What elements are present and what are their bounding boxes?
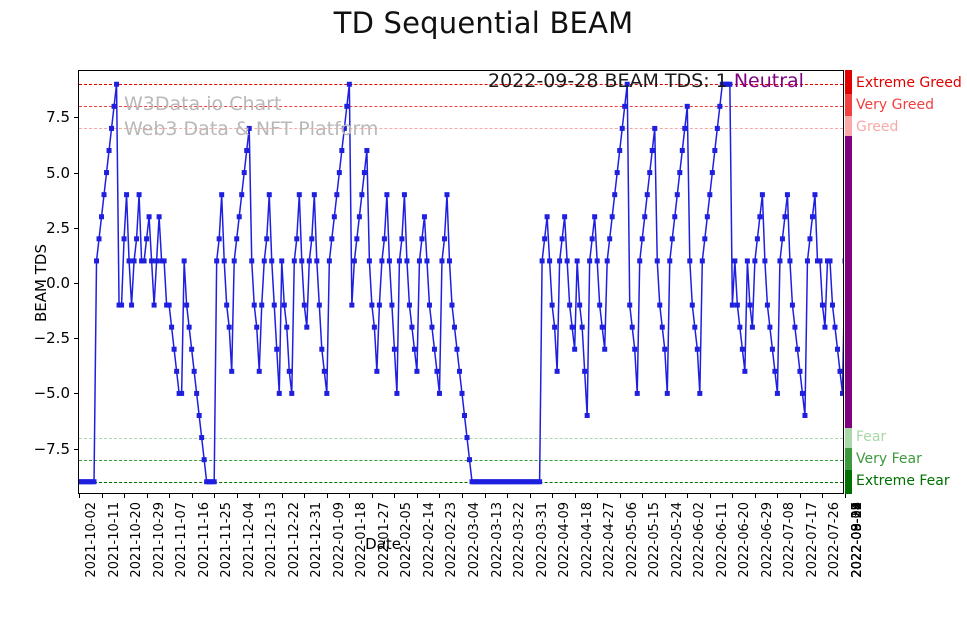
data-point-marker — [610, 214, 615, 219]
data-point-marker — [119, 303, 124, 308]
data-point-marker — [707, 192, 712, 197]
data-point-marker — [297, 192, 302, 197]
data-point-marker — [580, 325, 585, 330]
x-tick-mark — [687, 493, 688, 498]
y-tick-mark — [74, 228, 79, 229]
data-point-marker — [843, 258, 844, 263]
data-point-marker — [820, 303, 825, 308]
data-point-marker — [107, 148, 112, 153]
current-value-annotation: 2022-09-28 BEAM TDS: 1 Neutral — [488, 70, 804, 92]
x-tick-label: 2022-01-09 — [332, 502, 347, 578]
colorbar-segment — [845, 136, 852, 428]
x-tick-mark — [394, 493, 395, 498]
colorbar-label: Greed — [856, 119, 898, 135]
data-point-marker — [374, 369, 379, 374]
data-point-marker — [670, 236, 675, 241]
data-point-marker — [347, 82, 352, 87]
data-point-marker — [102, 192, 107, 197]
data-point-marker — [429, 325, 434, 330]
x-tick-label: 2022-03-13 — [490, 502, 505, 578]
data-point-marker — [134, 236, 139, 241]
data-point-marker — [817, 258, 822, 263]
data-point-marker — [660, 325, 665, 330]
data-point-marker — [595, 258, 600, 263]
data-point-marker — [214, 258, 219, 263]
data-point-marker — [397, 258, 402, 263]
data-point-marker — [680, 148, 685, 153]
data-point-marker — [675, 192, 680, 197]
data-point-marker — [224, 303, 229, 308]
data-point-marker — [367, 258, 372, 263]
data-point-marker — [792, 325, 797, 330]
data-point-marker — [222, 258, 227, 263]
data-point-marker — [540, 258, 545, 263]
data-point-marker — [557, 258, 562, 263]
data-point-marker — [444, 192, 449, 197]
data-point-marker — [97, 236, 102, 241]
data-point-marker — [337, 170, 342, 175]
data-point-marker — [257, 369, 262, 374]
y-tick-mark — [74, 393, 79, 394]
data-point-marker — [762, 258, 767, 263]
x-tick-mark — [507, 493, 508, 498]
data-point-marker — [394, 391, 399, 396]
data-point-marker — [109, 126, 114, 131]
data-point-marker — [712, 148, 717, 153]
data-point-marker — [94, 258, 99, 263]
data-point-marker — [587, 258, 592, 263]
data-point-marker — [575, 258, 580, 263]
data-point-marker — [812, 192, 817, 197]
data-point-marker — [685, 104, 690, 109]
data-point-marker — [417, 258, 422, 263]
x-tick-label: 2021-10-20 — [129, 502, 144, 578]
x-tick-label: 2022-04-27 — [602, 502, 617, 578]
data-point-marker — [329, 236, 334, 241]
data-point-marker — [687, 258, 692, 263]
data-point-marker — [172, 347, 177, 352]
data-point-marker — [439, 258, 444, 263]
plot-inner: W3Data.io Chart Web3 Data & NFT Platform — [79, 71, 843, 493]
data-point-marker — [262, 258, 267, 263]
x-tick-label: 2021-12-04 — [242, 502, 257, 578]
data-point-marker — [294, 236, 299, 241]
data-point-marker — [264, 236, 269, 241]
y-tick-label: 7.5 — [46, 108, 70, 126]
x-tick-mark — [485, 493, 486, 498]
x-tick-mark — [462, 493, 463, 498]
data-point-marker — [332, 214, 337, 219]
x-tick-label: 2022-05-06 — [625, 502, 640, 578]
data-point-marker — [122, 236, 127, 241]
data-point-marker — [197, 413, 202, 418]
data-point-marker — [577, 303, 582, 308]
data-point-marker — [149, 258, 154, 263]
data-point-marker — [747, 303, 752, 308]
data-point-marker — [605, 258, 610, 263]
data-point-marker — [402, 192, 407, 197]
data-point-marker — [690, 303, 695, 308]
data-point-marker — [424, 258, 429, 263]
data-point-marker — [542, 236, 547, 241]
x-tick-label: 2021-11-16 — [197, 502, 212, 578]
x-tick-mark — [124, 493, 125, 498]
x-tick-label: 2022-05-24 — [670, 502, 685, 578]
data-point-marker — [760, 192, 765, 197]
x-tick-label: 2021-12-13 — [264, 502, 279, 578]
data-point-marker — [735, 303, 740, 308]
data-point-marker — [737, 325, 742, 330]
data-point-marker — [239, 192, 244, 197]
data-point-marker — [192, 369, 197, 374]
data-point-marker — [822, 325, 827, 330]
data-point-marker — [312, 192, 317, 197]
data-point-marker — [802, 413, 807, 418]
data-point-marker — [807, 236, 812, 241]
data-point-marker — [182, 258, 187, 263]
data-point-marker — [364, 148, 369, 153]
data-point-marker — [827, 258, 832, 263]
data-point-marker — [187, 325, 192, 330]
data-point-marker — [637, 258, 642, 263]
data-point-marker — [142, 258, 147, 263]
data-point-marker — [157, 214, 162, 219]
y-tick-mark — [74, 173, 79, 174]
x-tick-label: 2021-10-29 — [152, 502, 167, 578]
data-point-marker — [700, 258, 705, 263]
data-point-marker — [677, 170, 682, 175]
colorbar-segment — [845, 470, 852, 494]
x-tick-mark — [620, 493, 621, 498]
data-point-marker — [277, 391, 282, 396]
data-point-marker — [592, 214, 597, 219]
data-point-marker — [645, 192, 650, 197]
data-point-marker — [382, 236, 387, 241]
watermark-line-2: Web3 Data & NFT Platform — [124, 118, 378, 140]
x-tick-label: 2021-12-31 — [309, 502, 324, 578]
data-point-marker — [112, 104, 117, 109]
data-point-marker — [92, 479, 97, 484]
watermark-line-1: W3Data.io Chart — [124, 93, 281, 115]
x-tick-label: 2022-03-31 — [535, 502, 550, 578]
data-point-marker — [279, 258, 284, 263]
y-tick-label: −5.0 — [34, 384, 70, 402]
data-point-marker — [114, 82, 119, 87]
y-tick-mark — [74, 449, 79, 450]
data-point-marker — [750, 325, 755, 330]
colorbar-segment — [845, 448, 852, 470]
data-point-marker — [602, 347, 607, 352]
colorbar-label: Very Fear — [856, 451, 922, 467]
data-point-marker — [287, 369, 292, 374]
data-point-marker — [600, 325, 605, 330]
data-point-marker — [309, 236, 314, 241]
data-point-marker — [795, 347, 800, 352]
x-tick-mark — [552, 493, 553, 498]
data-point-marker — [837, 369, 842, 374]
annotation-text: 2022-09-28 BEAM TDS: 1 — [488, 70, 728, 92]
data-point-marker — [319, 347, 324, 352]
data-point-marker — [272, 303, 277, 308]
colorbar-segment — [845, 428, 852, 448]
x-tick-label: 2021-10-02 — [84, 502, 99, 578]
data-point-marker — [607, 236, 612, 241]
x-tick-mark — [259, 493, 260, 498]
data-point-marker — [630, 325, 635, 330]
data-point-marker — [790, 303, 795, 308]
data-point-marker — [179, 391, 184, 396]
y-tick-label: 0.0 — [46, 274, 70, 292]
x-tick-mark — [417, 493, 418, 498]
data-point-marker — [162, 258, 167, 263]
data-point-marker — [740, 347, 745, 352]
data-point-marker — [359, 192, 364, 197]
data-point-marker — [697, 391, 702, 396]
data-point-marker — [555, 369, 560, 374]
data-point-marker — [372, 325, 377, 330]
data-point-marker — [242, 170, 247, 175]
data-point-marker — [672, 214, 677, 219]
data-point-marker — [465, 435, 470, 440]
x-tick-label: 2021-11-07 — [174, 502, 189, 578]
data-point-marker — [409, 325, 414, 330]
data-point-marker — [635, 391, 640, 396]
data-point-marker — [384, 192, 389, 197]
data-point-marker — [389, 303, 394, 308]
x-axis-label: Date — [365, 535, 401, 553]
colorbar-label: Very Greed — [856, 97, 934, 113]
data-point-marker — [560, 236, 565, 241]
data-point-marker — [447, 258, 452, 263]
x-tick-mark — [777, 493, 778, 498]
data-point-marker — [810, 214, 815, 219]
x-tick-mark — [102, 493, 103, 498]
data-point-marker — [547, 258, 552, 263]
data-point-marker — [657, 303, 662, 308]
data-point-marker — [299, 258, 304, 263]
data-point-marker — [567, 303, 572, 308]
page-title: TD Sequential BEAM — [0, 6, 967, 40]
data-point-marker — [219, 192, 224, 197]
data-point-marker — [169, 325, 174, 330]
x-tick-mark — [530, 493, 531, 498]
colorbar-label: Fear — [856, 429, 886, 445]
data-point-marker — [767, 325, 772, 330]
data-point-marker — [362, 170, 367, 175]
data-point-marker — [545, 214, 550, 219]
colorbar-segment — [845, 94, 852, 116]
data-point-marker — [597, 303, 602, 308]
data-point-marker — [184, 303, 189, 308]
data-point-marker — [832, 325, 837, 330]
data-point-marker — [244, 148, 249, 153]
data-point-marker — [452, 325, 457, 330]
data-point-marker — [780, 236, 785, 241]
data-point-marker — [652, 126, 657, 131]
data-point-marker — [800, 391, 805, 396]
data-point-marker — [615, 170, 620, 175]
data-point-marker — [174, 369, 179, 374]
data-point-marker — [647, 170, 652, 175]
data-point-marker — [199, 435, 204, 440]
data-point-marker — [710, 170, 715, 175]
series-polyline — [79, 84, 843, 482]
data-point-marker — [289, 391, 294, 396]
data-point-marker — [274, 347, 279, 352]
data-point-marker — [379, 258, 384, 263]
data-point-marker — [797, 369, 802, 374]
data-point-marker — [229, 369, 234, 374]
x-tick-label: 2021-12-22 — [287, 502, 302, 578]
data-point-marker — [785, 192, 790, 197]
data-point-marker — [407, 303, 412, 308]
data-point-marker — [129, 303, 134, 308]
data-point-marker — [437, 391, 442, 396]
x-tick-mark — [597, 493, 598, 498]
x-tick-label: 2022-06-20 — [737, 502, 752, 578]
x-tick-mark — [800, 493, 801, 498]
data-point-marker — [317, 303, 322, 308]
x-tick-mark — [304, 493, 305, 498]
data-point-marker — [777, 258, 782, 263]
data-point-marker — [805, 258, 810, 263]
x-tick-mark — [732, 493, 733, 498]
x-tick-label: 2022-02-14 — [422, 502, 437, 578]
data-point-marker — [369, 303, 374, 308]
data-point-marker — [419, 236, 424, 241]
data-point-marker — [349, 303, 354, 308]
data-point-marker — [292, 258, 297, 263]
y-tick-label: 2.5 — [46, 219, 70, 237]
chart-page: TD Sequential BEAM W3Data.io Chart Web3 … — [0, 0, 967, 633]
data-point-marker — [640, 236, 645, 241]
data-point-marker — [467, 457, 472, 462]
x-tick-mark — [169, 493, 170, 498]
data-point-marker — [127, 258, 132, 263]
x-tick-label: 2022-04-09 — [557, 502, 572, 578]
data-point-marker — [269, 258, 274, 263]
data-point-marker — [772, 369, 777, 374]
data-point-marker — [202, 457, 207, 462]
data-point-marker — [354, 236, 359, 241]
data-point-marker — [755, 236, 760, 241]
data-point-marker — [457, 369, 462, 374]
data-point-marker — [322, 369, 327, 374]
data-point-marker — [254, 325, 259, 330]
x-tick-mark — [575, 493, 576, 498]
data-point-marker — [632, 347, 637, 352]
data-point-marker — [692, 325, 697, 330]
x-tick-label: 2022-02-05 — [399, 502, 414, 578]
x-tick-mark — [192, 493, 193, 498]
data-point-marker — [617, 148, 622, 153]
data-point-marker — [835, 347, 840, 352]
data-point-marker — [552, 325, 557, 330]
y-tick-mark — [74, 283, 79, 284]
data-point-marker — [775, 391, 780, 396]
data-point-marker — [259, 303, 264, 308]
y-tick-label: 5.0 — [46, 164, 70, 182]
sentiment-colorbar — [845, 70, 852, 494]
data-point-marker — [284, 325, 289, 330]
data-point-marker — [154, 258, 159, 263]
x-tick-label: 2021-10-11 — [107, 502, 122, 578]
data-point-marker — [132, 258, 137, 263]
data-point-marker — [442, 236, 447, 241]
data-point-marker — [434, 369, 439, 374]
data-point-marker — [667, 258, 672, 263]
data-point-marker — [152, 303, 157, 308]
y-tick-mark — [74, 117, 79, 118]
x-tick-mark — [237, 493, 238, 498]
data-point-marker — [432, 347, 437, 352]
data-point-marker — [460, 391, 465, 396]
data-point-marker — [377, 303, 382, 308]
data-point-marker — [650, 148, 655, 153]
data-point-marker — [412, 347, 417, 352]
data-point-marker — [282, 303, 287, 308]
data-point-marker — [757, 214, 762, 219]
data-point-marker — [237, 214, 242, 219]
data-point-marker — [167, 303, 172, 308]
data-point-marker — [622, 104, 627, 109]
x-tick-label: 2022-02-23 — [444, 502, 459, 578]
x-tick-label: 2022-07-17 — [805, 502, 820, 578]
y-tick-label: −2.5 — [34, 329, 70, 347]
data-point-marker — [742, 369, 747, 374]
plot-area: W3Data.io Chart Web3 Data & NFT Platform… — [78, 70, 844, 494]
data-point-marker — [705, 214, 710, 219]
data-point-marker — [414, 369, 419, 374]
data-point-marker — [307, 258, 312, 263]
data-point-marker — [627, 303, 632, 308]
data-point-marker — [572, 347, 577, 352]
x-tick-label: 2022-05-15 — [647, 502, 662, 578]
data-point-marker — [840, 391, 843, 396]
x-tick-label: 2022-03-04 — [467, 502, 482, 578]
x-tick-mark — [349, 493, 350, 498]
data-point-marker — [695, 347, 700, 352]
x-tick-mark — [665, 493, 666, 498]
data-point-marker — [124, 192, 129, 197]
x-tick-label: 2021-11-25 — [219, 502, 234, 578]
x-tick-mark — [79, 493, 80, 498]
data-point-marker — [227, 325, 232, 330]
data-point-marker — [830, 303, 835, 308]
data-point-marker — [462, 413, 467, 418]
x-tick-mark — [372, 493, 373, 498]
x-tick-mark — [439, 493, 440, 498]
x-tick-label: 2022-07-26 — [827, 502, 842, 578]
data-point-marker — [537, 479, 542, 484]
data-point-marker — [642, 214, 647, 219]
data-point-marker — [427, 303, 432, 308]
data-point-marker — [422, 214, 427, 219]
data-point-marker — [590, 236, 595, 241]
data-point-marker — [585, 413, 590, 418]
data-point-marker — [565, 258, 570, 263]
data-point-marker — [662, 347, 667, 352]
colorbar-segment — [845, 116, 852, 136]
data-point-marker — [404, 258, 409, 263]
data-point-marker — [137, 192, 142, 197]
x-tick-label: 2022-03-22 — [512, 502, 527, 578]
data-point-marker — [454, 347, 459, 352]
colorbar-segment — [845, 70, 852, 94]
x-tick-label: 2022-06-29 — [760, 502, 775, 578]
data-point-marker — [745, 258, 750, 263]
data-point-marker — [304, 325, 309, 330]
